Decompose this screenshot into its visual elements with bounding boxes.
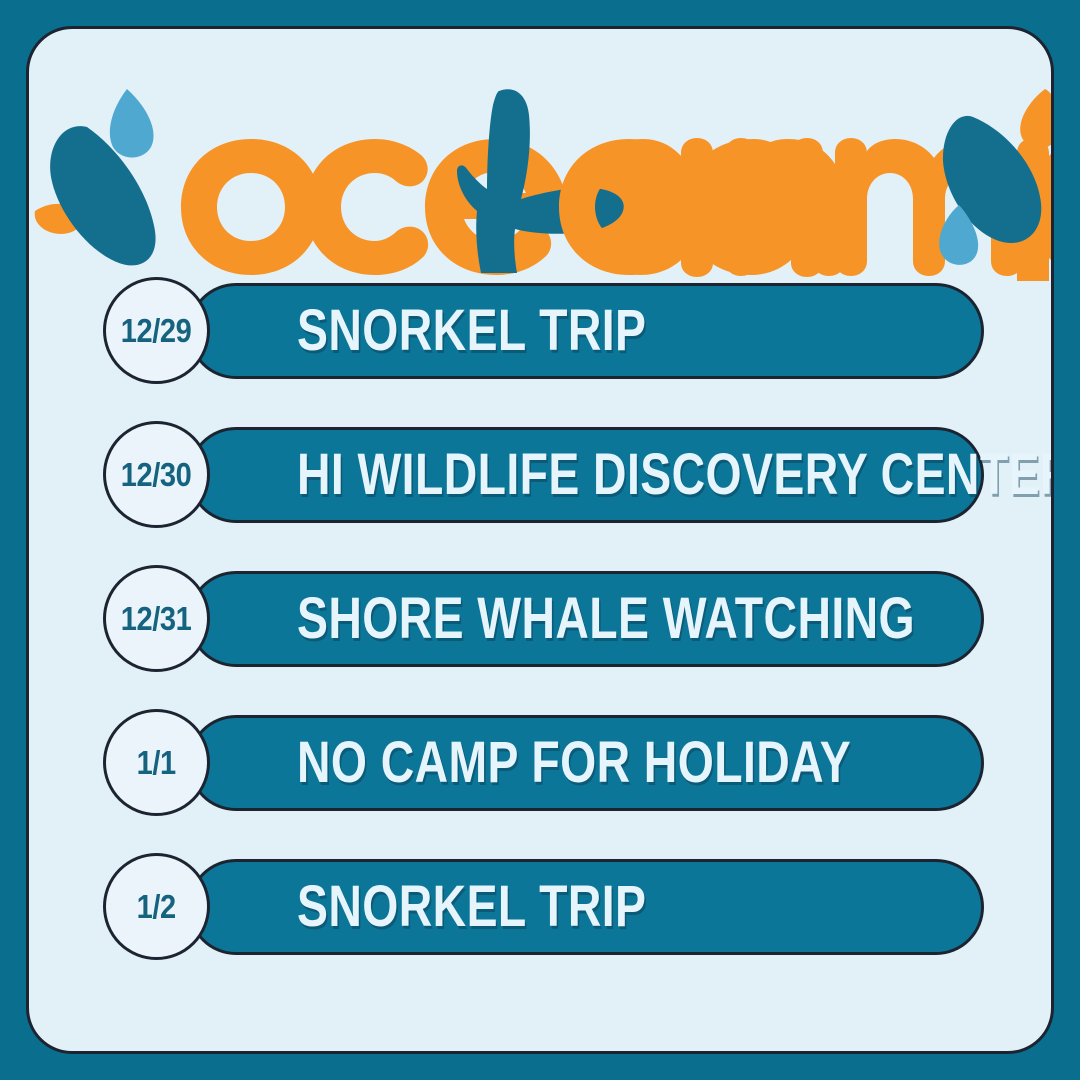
date-label: 12/30: [121, 458, 191, 491]
date-label: 1/2: [137, 890, 176, 923]
date-label: 1/1: [137, 746, 176, 779]
schedule-row[interactable]: SNORKEL TRIP 1/2: [29, 847, 1054, 991]
date-label: 12/31: [121, 602, 191, 635]
date-badge: 1/1: [103, 709, 210, 816]
activity-bar[interactable]: SNORKEL TRIP: [188, 859, 984, 955]
poster: SNORKEL TRIP 12/29 HI WILDLIFE DISCOVERY…: [0, 0, 1080, 1080]
activity-label: HI WILDLIFE DISCOVERY CENTER: [297, 446, 1054, 504]
schedule-list: SNORKEL TRIP 12/29 HI WILDLIFE DISCOVERY…: [29, 271, 1054, 991]
activity-bar[interactable]: NO CAMP FOR HOLIDAY: [188, 715, 984, 811]
date-badge: 12/29: [103, 277, 210, 384]
activity-label: SNORKEL TRIP: [297, 302, 646, 360]
date-badge: 12/30: [103, 421, 210, 528]
activity-label: SNORKEL TRIP: [297, 878, 646, 936]
splash-right-orange-drop: [1020, 89, 1054, 149]
ocean-camp-logo: [29, 81, 1054, 281]
date-badge: 12/31: [103, 565, 210, 672]
activity-bar[interactable]: SHORE WHALE WATCHING: [188, 571, 984, 667]
schedule-row[interactable]: SHORE WHALE WATCHING 12/31: [29, 559, 1054, 703]
activity-bar[interactable]: SNORKEL TRIP: [188, 283, 984, 379]
activity-bar[interactable]: HI WILDLIFE DISCOVERY CENTER: [188, 427, 984, 523]
date-badge: 1/2: [103, 853, 210, 960]
date-label: 12/29: [121, 314, 191, 347]
schedule-card: SNORKEL TRIP 12/29 HI WILDLIFE DISCOVERY…: [26, 26, 1054, 1054]
activity-label: NO CAMP FOR HOLIDAY: [297, 734, 851, 792]
schedule-row[interactable]: SNORKEL TRIP 12/29: [29, 271, 1054, 415]
splash-left-light-drop: [110, 89, 154, 158]
schedule-row[interactable]: HI WILDLIFE DISCOVERY CENTER 12/30: [29, 415, 1054, 559]
schedule-row[interactable]: NO CAMP FOR HOLIDAY 1/1: [29, 703, 1054, 847]
activity-label: SHORE WHALE WATCHING: [297, 590, 915, 648]
